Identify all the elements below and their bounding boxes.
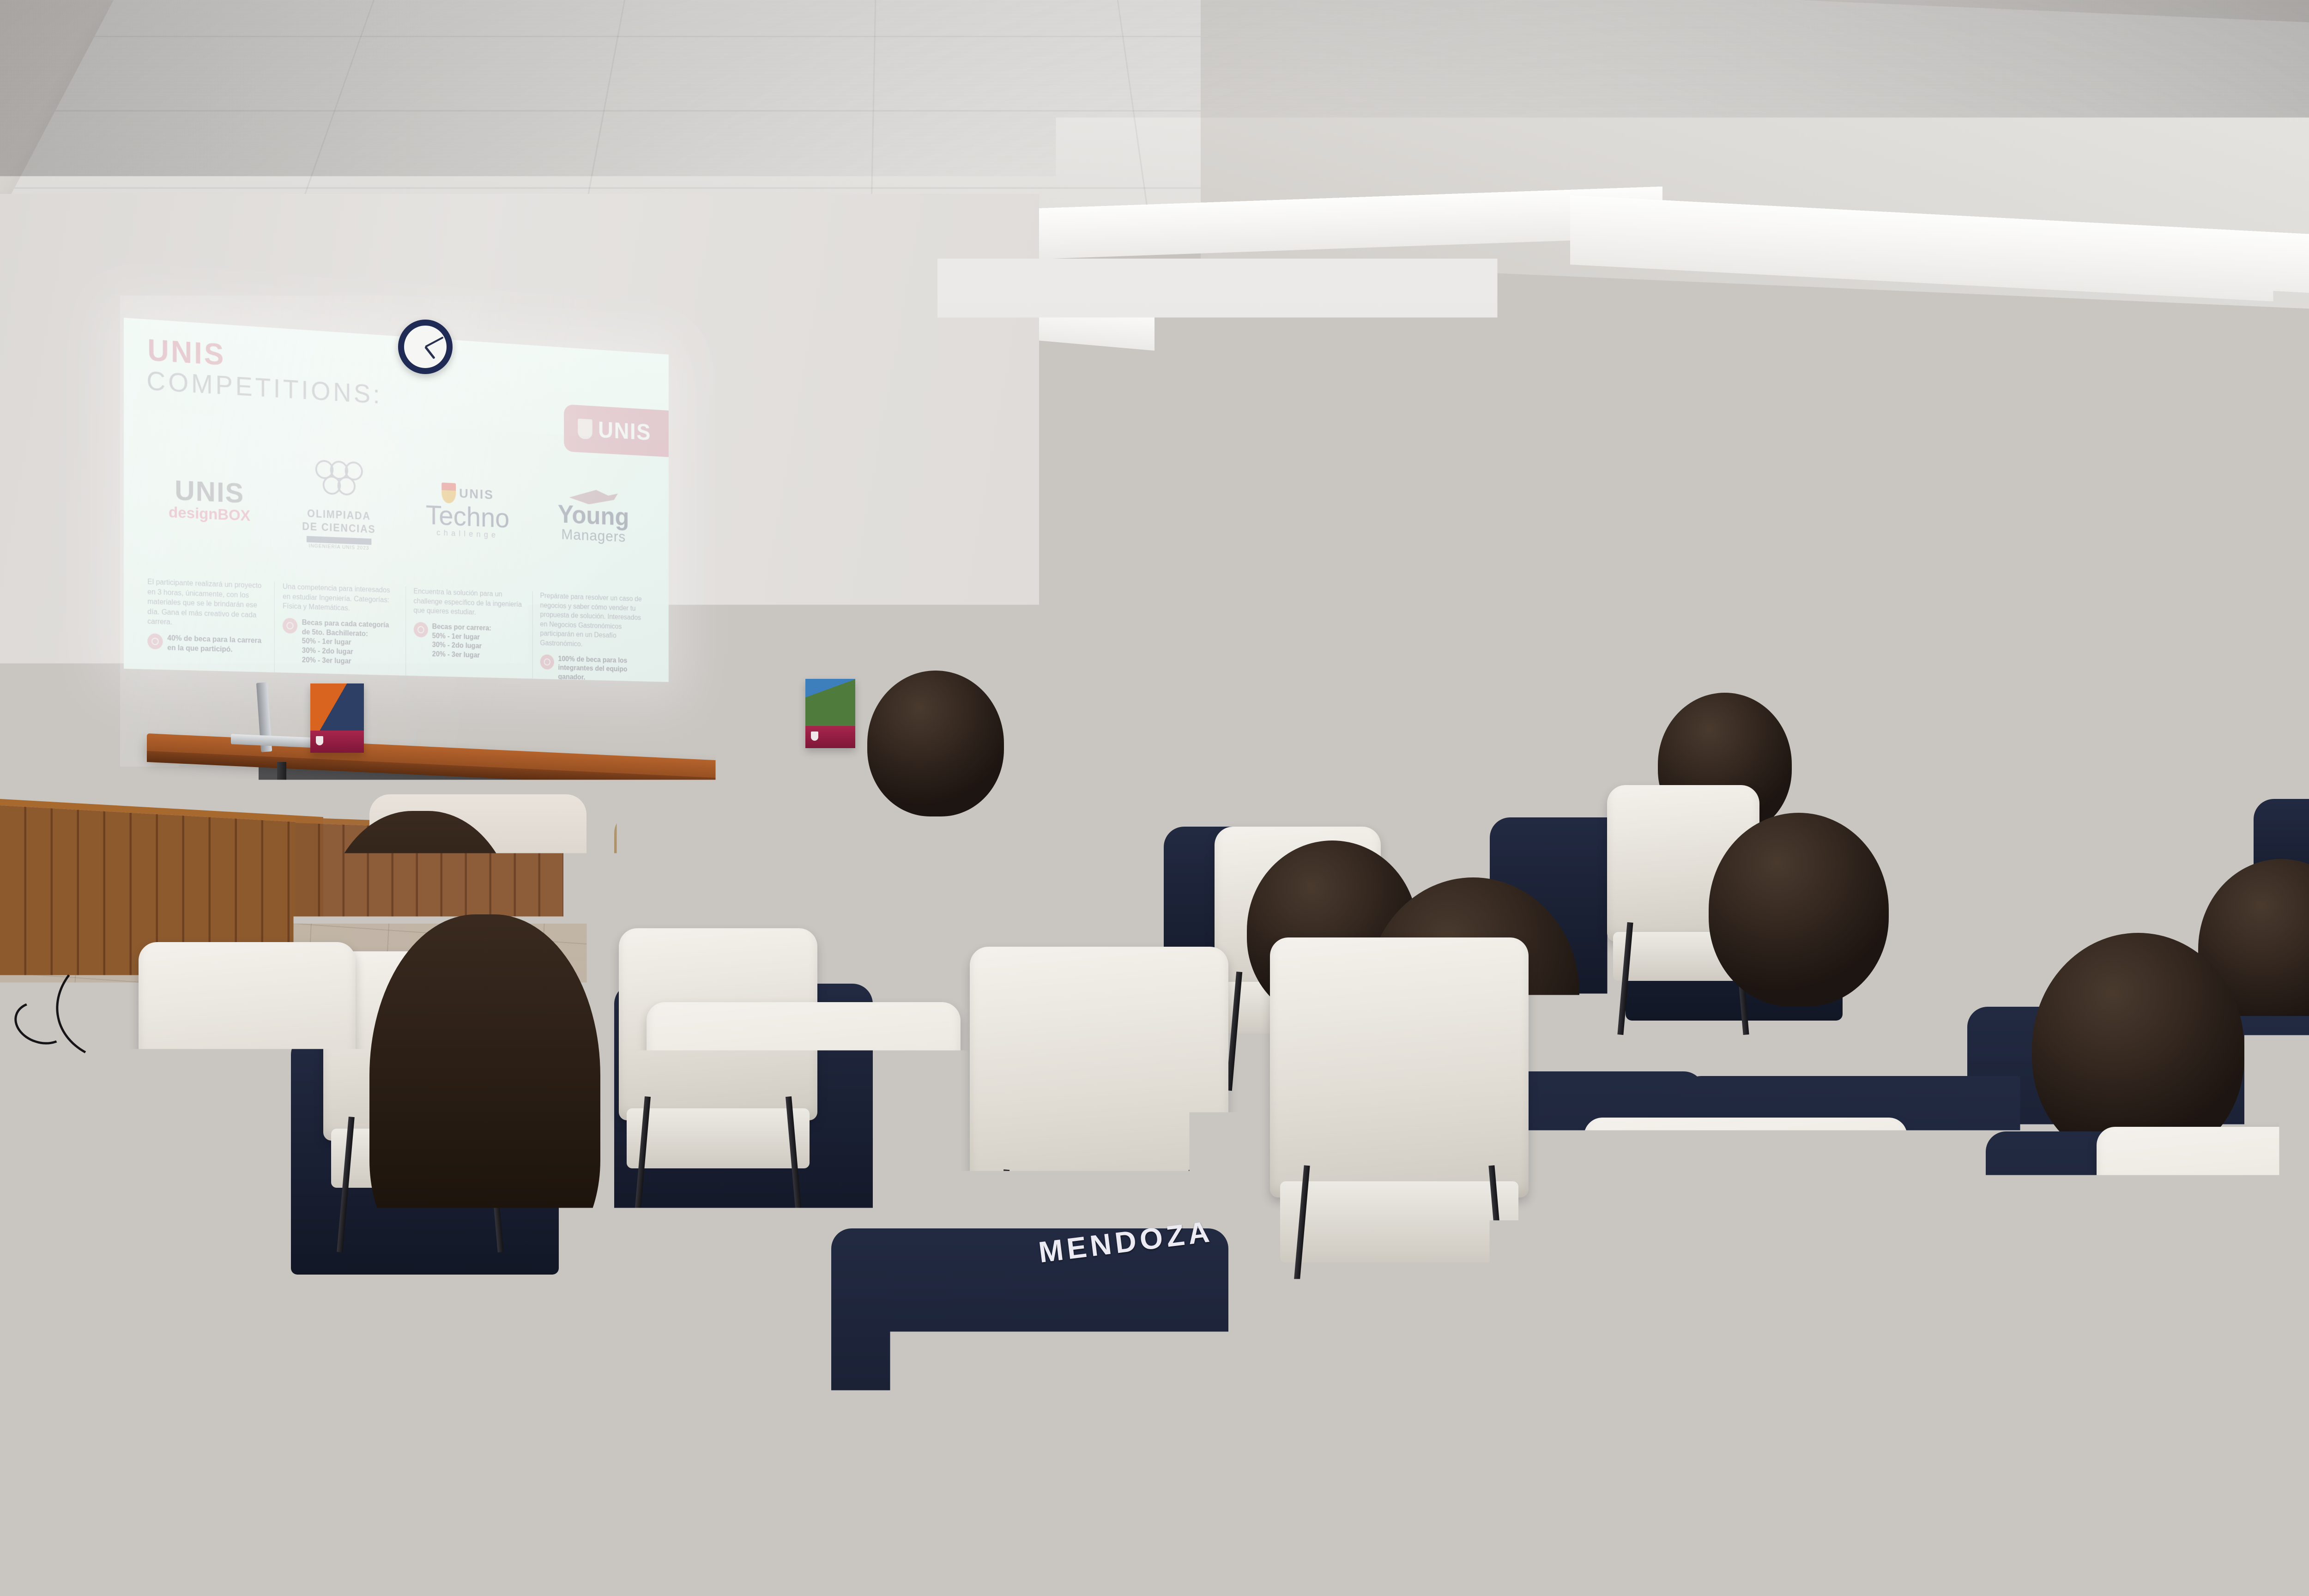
student-back-6 (1883, 720, 2022, 859)
logo-unis-techno: UNIS Techno challenge (426, 482, 509, 540)
column-2-description: Una competencia para interesados en estu… (283, 582, 398, 615)
column-4-description: Prepárate para resolver un caso de negoc… (540, 591, 648, 651)
column-1-award-text: 40% de beca para la carrera en la que pa… (167, 634, 266, 656)
brochure-stand-4[interactable] (805, 679, 855, 748)
student-head-mid-3 (867, 671, 1004, 816)
brochure-1-cover (310, 683, 364, 731)
chair-front-5[interactable] (1270, 937, 1529, 1344)
chair-front-4[interactable] (970, 947, 1228, 1344)
logo-unis-designbox: UNIS designBOX (169, 474, 250, 525)
student-head-mid-1 (401, 659, 553, 816)
chair-front-8[interactable] (822, 1339, 1330, 1596)
logo-designbox-line2: designBOX (169, 503, 250, 525)
column-4-award-text: 100% de beca para los integrantes del eq… (558, 655, 648, 682)
slide-columns: El participante realizará un proyecto en… (124, 576, 669, 682)
projector-pole (740, 110, 752, 285)
award-ribbon-icon (147, 633, 163, 649)
column-3-description: Encuentra la solución para un challenge … (413, 586, 525, 619)
presenter-glasses (1247, 558, 1271, 565)
chair-front-7[interactable] (2097, 1127, 2309, 1596)
wall-clock (398, 320, 453, 374)
student-head-mid-4 (1196, 693, 1335, 840)
column-3-award-text: Becas por carrera: 50% - 1er lugar 30% -… (432, 623, 491, 661)
slide-column-2: Una competencia para interesados en estu… (275, 582, 406, 676)
logo-ym-line2: Managers (558, 526, 629, 545)
slide-title-secondary: COMPETITIONS: (146, 365, 382, 410)
projector-lens-icon (791, 289, 815, 313)
brochure-4-cover (805, 679, 855, 727)
banner-subline: UNIVERSIDAD (1215, 516, 1299, 528)
projection-screen: UNIS COMPETITIONS: UNIS UNIS designBOX (124, 318, 669, 682)
banner-top-rail (1160, 443, 1299, 455)
chair-front-6[interactable] (1584, 1118, 1907, 1596)
window-top-rail (1538, 402, 2309, 413)
logo-ym-line1: Young (558, 503, 629, 529)
logo-olimpiada-line2: DE CIENCIAS (302, 520, 375, 536)
column-3-award: Becas por carrera: 50% - 1er lugar 30% -… (413, 622, 525, 662)
banner-headline: UNIS (1215, 490, 1282, 516)
clock-hour-hand (424, 346, 435, 359)
column-2-award: Becas para cada categoría de 5to. Bachil… (283, 618, 398, 668)
logo-techno-line1: UNIS (459, 486, 494, 502)
crucifix-figure (1038, 418, 1052, 462)
logo-olimpiada-ciencias: OLIMPIADA DE CIENCIAS INGENIERÍA UNIS 20… (302, 459, 375, 551)
classroom-presentation-photo: UNIS COMPETITIONS: UNIS UNIS designBOX (0, 0, 2309, 1596)
column-1-award: 40% de beca para la carrera en la que pa… (147, 633, 266, 655)
award-ribbon-icon-4 (540, 654, 554, 670)
brochure-1-base (310, 731, 364, 753)
brochure-4-base (805, 726, 855, 748)
banner-shield-icon (1177, 488, 1205, 526)
column-1-description: El participante realizará un proyecto en… (147, 577, 266, 630)
brochure-shield-icon-1 (316, 736, 323, 745)
column-4-award: 100% de beca para los integrantes del eq… (540, 654, 648, 682)
student-head-mid-2 (643, 683, 781, 831)
chair-front-1[interactable] (139, 942, 356, 1293)
slide-unis-competitions: UNIS COMPETITIONS: UNIS UNIS designBOX (124, 318, 669, 682)
presenter-head (1225, 539, 1269, 591)
brochure-stand-1[interactable] (310, 683, 364, 753)
table-leg-left (277, 762, 286, 914)
clock-minute-hand (425, 337, 444, 348)
award-ribbon-icon-3 (413, 622, 428, 637)
column-2-award-text: Becas para cada categoría de 5to. Bachil… (302, 618, 398, 668)
award-ribbon-icon-2 (283, 618, 297, 634)
olympic-rings-icon (311, 459, 367, 507)
brochure-shield-icon-3 (634, 744, 641, 753)
unis-shield-icon (578, 418, 592, 439)
slide-column-1: El participante realizará un proyecto en… (139, 577, 275, 672)
brochure-shield-icon-4 (811, 731, 818, 741)
slide-column-4: Prepárate para resolver un caso de negoc… (532, 591, 655, 682)
unis-badge-text: UNIS (598, 417, 651, 446)
logo-techno-line2: Techno (426, 502, 509, 531)
logo-young-managers: Young Managers (558, 488, 629, 546)
